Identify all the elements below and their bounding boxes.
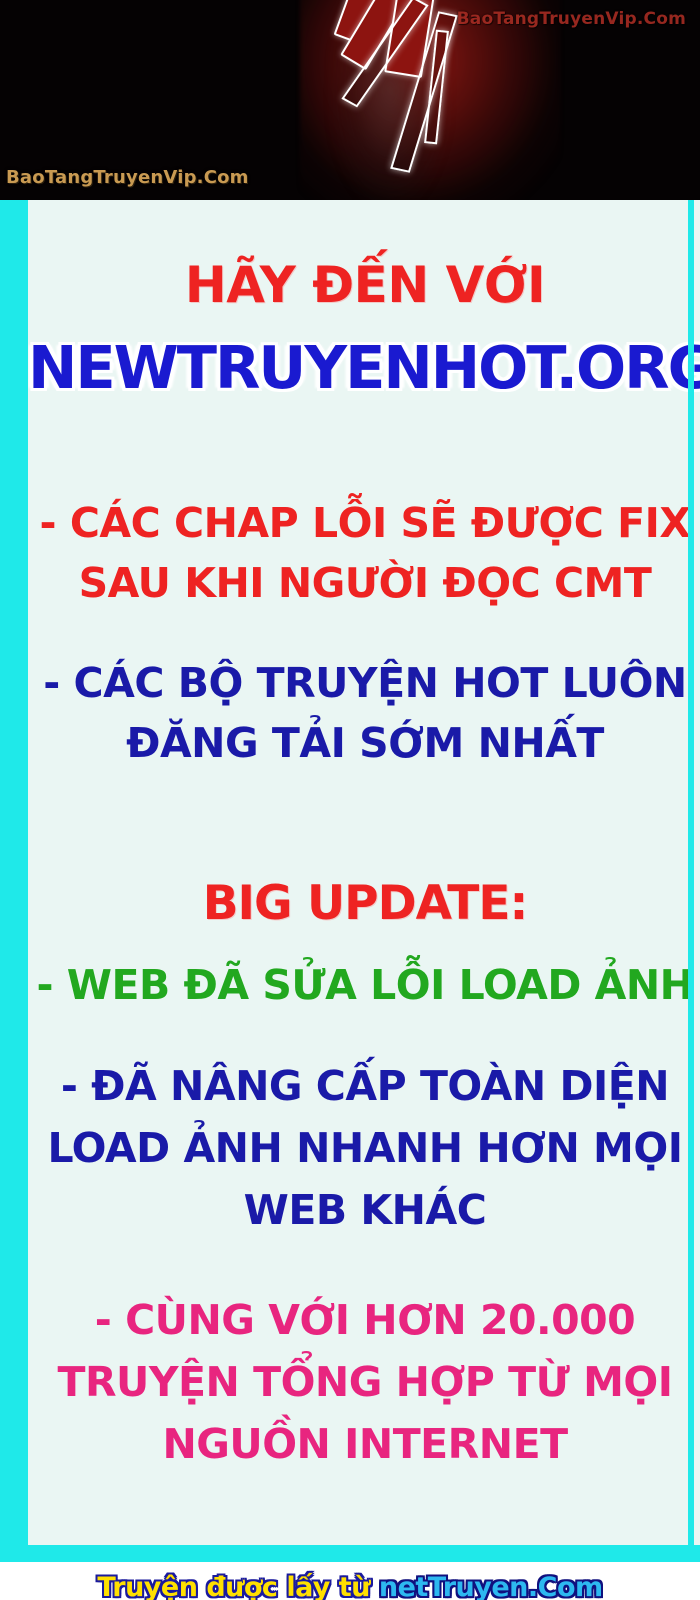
ad-border-right — [688, 200, 694, 1562]
manga-art-panel[interactable]: BaoTangTruyenVip.Com BaoTangTruyenVip.Co… — [0, 0, 700, 200]
ad-bullet-fix-chapters-line2: SAU KHI NGƯỜI ĐỌC CMT — [28, 563, 700, 605]
ad-update-full-upgrade-line1: - ĐÃ NÂNG CẤP TOÀN DIỆN — [28, 1066, 700, 1108]
ad-headline: HÃY ĐẾN VỚI — [28, 260, 700, 311]
ad-update-story-count-line2: TRUYỆN TỔNG HỢP TỪ MỌI — [28, 1362, 700, 1404]
source-credit-prefix: Truyện được lấy từ — [97, 1572, 379, 1600]
ad-border-bottom — [0, 1545, 700, 1562]
ad-update-story-count-line1: - CÙNG VỚI HƠN 20.000 — [28, 1300, 700, 1342]
watermark-top-right: BaoTangTruyenVip.Com — [457, 9, 686, 29]
advertisement-banner[interactable]: HÃY ĐẾN VỚI NEWTRUYENHOT.ORG - CÁC CHAP … — [0, 200, 700, 1562]
ad-update-heading: BIG UPDATE: — [28, 880, 700, 928]
ad-update-story-count-line3: NGUỒN INTERNET — [28, 1424, 700, 1466]
manga-reader-page: BaoTangTruyenVip.Com BaoTangTruyenVip.Co… — [0, 0, 700, 1600]
watermark-bottom-left: BaoTangTruyenVip.Com — [6, 167, 249, 188]
advertisement-content: HÃY ĐẾN VỚI NEWTRUYENHOT.ORG - CÁC CHAP … — [28, 200, 700, 1545]
source-credit-strip: Truyện được lấy từ netTruyen.Com — [0, 1562, 700, 1600]
ad-update-image-load-fixed: - WEB ĐÃ SỬA LỖI LOAD ẢNH — [28, 965, 700, 1007]
ad-site-url[interactable]: NEWTRUYENHOT.ORG — [28, 338, 700, 398]
ad-bullet-hot-series-line1: - CÁC BỘ TRUYỆN HOT LUÔN — [28, 663, 700, 705]
ad-update-full-upgrade-line3: WEB KHÁC — [28, 1190, 700, 1232]
ad-update-full-upgrade-line2: LOAD ẢNH NHANH HƠN MỌI — [28, 1128, 700, 1170]
source-credit-text: Truyện được lấy từ netTruyen.Com — [0, 1574, 700, 1600]
ad-bullet-hot-series-line2: ĐĂNG TẢI SỚM NHẤT — [28, 723, 700, 765]
ad-bullet-fix-chapters-line1: - CÁC CHAP LỖI SẼ ĐƯỢC FIX — [28, 503, 700, 545]
source-credit-site[interactable]: netTruyen.Com — [379, 1572, 603, 1600]
